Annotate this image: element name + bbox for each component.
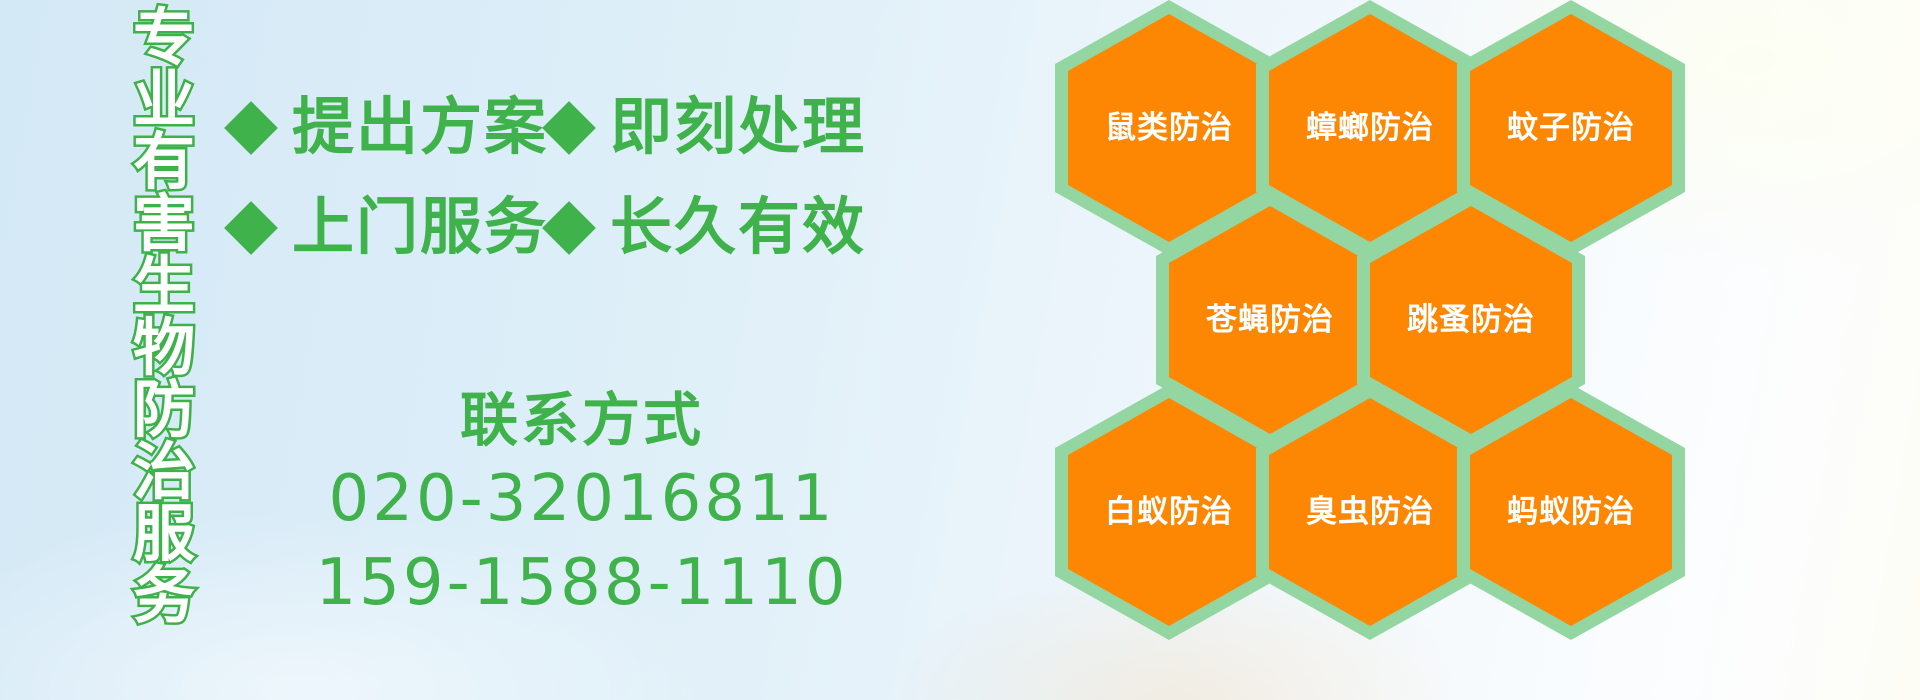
- vertical-headline: 专 业 有 害 生 物 防 治 服 务: [108, 8, 220, 568]
- feature-item-immediate-handling: 即刻处理: [550, 97, 866, 159]
- hexagon-inner: 蚂蚁防治: [1470, 398, 1672, 626]
- vertical-headline-char-9: 服: [133, 504, 195, 566]
- service-label: 苍蝇防治: [1206, 303, 1334, 337]
- contact-phone-mobile[interactable]: 159-1588-1110: [232, 541, 932, 625]
- feature-row: 提出方案 即刻处理: [232, 78, 872, 178]
- feature-row: 上门服务 长久有效: [232, 178, 872, 278]
- pest-control-banner: 专 业 有 害 生 物 防 治 服 务 提出方案 即刻处理 上门服务: [0, 0, 1920, 700]
- vertical-headline-char-7: 防: [133, 380, 195, 442]
- vertical-headline-char-10: 务: [133, 566, 195, 628]
- feature-label: 提出方案: [292, 97, 548, 159]
- diamond-bullet-icon: [224, 201, 278, 255]
- contact-title: 联系方式: [232, 385, 932, 457]
- diamond-bullet-icon: [542, 101, 596, 155]
- service-hexagon-grid: 鼠类防治 蟑螂防治 蚊子防治 苍蝇防治 跳蚤防治 白蚁防治: [1055, 0, 1815, 700]
- contact-block: 联系方式 020-32016811 159-1588-1110: [232, 385, 932, 625]
- hexagon-inner: 跳蚤防治: [1370, 206, 1572, 434]
- feature-item-onsite-service: 上门服务: [232, 197, 550, 259]
- hexagon-inner: 白蚁防治: [1068, 398, 1270, 626]
- vertical-headline-char-8: 治: [133, 442, 195, 504]
- hexagon-inner: 蚊子防治: [1470, 14, 1672, 242]
- vertical-headline-char-1: 专: [133, 8, 195, 70]
- hexagon-inner: 蟑螂防治: [1269, 14, 1471, 242]
- hexagon-inner: 苍蝇防治: [1169, 206, 1371, 434]
- feature-item-propose-plan: 提出方案: [232, 97, 550, 159]
- service-label: 蚊子防治: [1507, 111, 1635, 145]
- vertical-headline-char-6: 物: [133, 318, 195, 380]
- service-label: 蟑螂防治: [1306, 111, 1434, 145]
- vertical-headline-char-2: 业: [133, 70, 195, 132]
- contact-phone-landline[interactable]: 020-32016811: [232, 457, 932, 541]
- service-label: 跳蚤防治: [1407, 303, 1535, 337]
- service-label: 鼠类防治: [1105, 111, 1233, 145]
- feature-label: 即刻处理: [610, 97, 866, 159]
- diamond-bullet-icon: [542, 201, 596, 255]
- vertical-headline-char-4: 害: [133, 194, 195, 256]
- feature-item-long-lasting: 长久有效: [550, 197, 866, 259]
- hexagon-inner: 臭虫防治: [1269, 398, 1471, 626]
- hexagon-inner: 鼠类防治: [1068, 14, 1270, 242]
- service-label: 蚂蚁防治: [1507, 495, 1635, 529]
- diamond-bullet-icon: [224, 101, 278, 155]
- feature-list: 提出方案 即刻处理 上门服务 长久有效: [232, 78, 872, 278]
- vertical-headline-char-5: 生: [133, 256, 195, 318]
- service-label: 臭虫防治: [1306, 495, 1434, 529]
- feature-label: 长久有效: [610, 197, 866, 259]
- feature-label: 上门服务: [292, 197, 548, 259]
- service-label: 白蚁防治: [1105, 495, 1233, 529]
- vertical-headline-char-3: 有: [133, 132, 195, 194]
